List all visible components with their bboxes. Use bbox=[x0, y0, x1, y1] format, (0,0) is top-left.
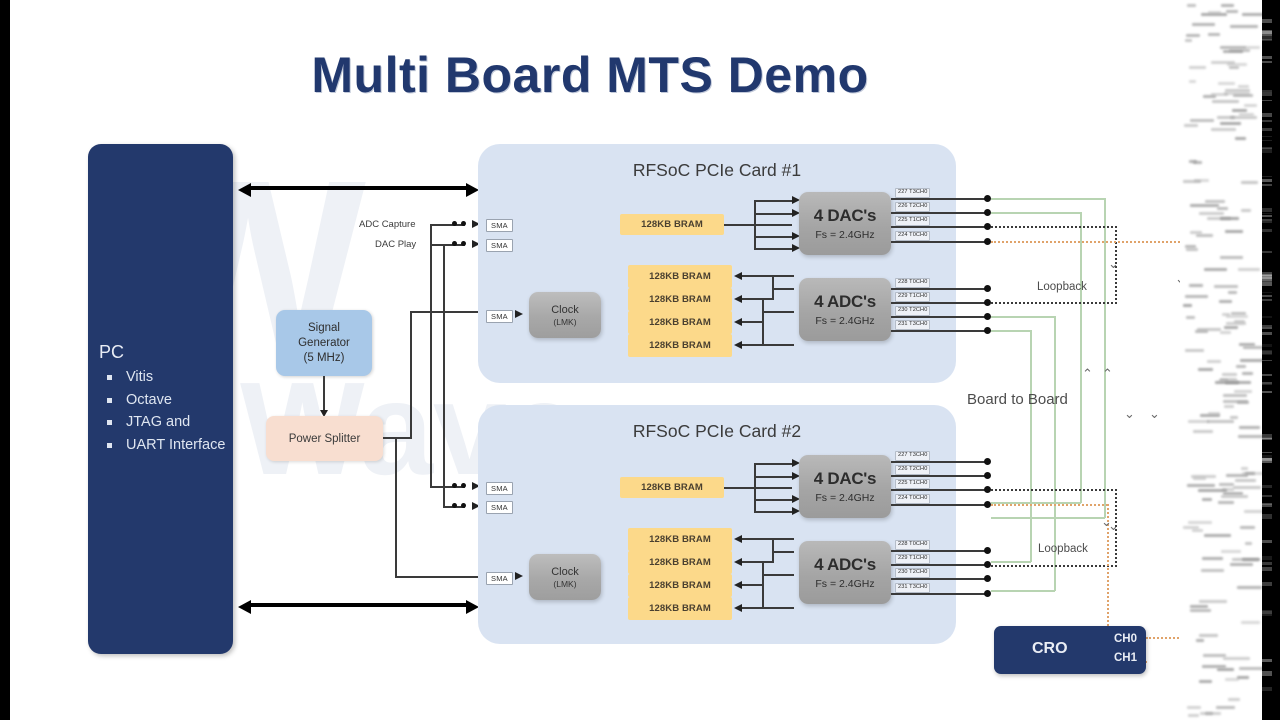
adc2-out-wire-0 bbox=[891, 550, 989, 552]
thumbnail-text-line bbox=[1230, 416, 1237, 419]
thumbnail-text-line bbox=[1226, 474, 1248, 477]
splitter-out-wire bbox=[383, 437, 412, 439]
slide-canvas: W Wave Multi Board MTS Demo PC Vitis Oct… bbox=[10, 0, 1272, 720]
splitter-trunk-up bbox=[410, 311, 412, 438]
thumbnail-text-line bbox=[1228, 698, 1241, 701]
thumbnail-text-line bbox=[1190, 231, 1202, 234]
thumbnail-edge-tick bbox=[1262, 299, 1272, 301]
dac1-out-wire-2 bbox=[891, 226, 989, 228]
adc1-pad-0 bbox=[984, 285, 991, 292]
thumbnail-text-line bbox=[1186, 34, 1201, 37]
thumbnail-text-line bbox=[1211, 128, 1236, 131]
adc1-out-arrow-1 bbox=[734, 295, 742, 303]
thumbnail-edge-tick bbox=[1262, 213, 1272, 215]
bram-card2-adc-2: 128KB BRAM bbox=[628, 574, 732, 597]
cro-block: CRO CH0 CH1 bbox=[994, 626, 1146, 674]
thumbnail-text-line bbox=[1216, 706, 1235, 709]
thumbnail-text-line bbox=[1219, 483, 1233, 486]
thumbnail-text-line bbox=[1233, 486, 1261, 489]
thumbnail-edge-tick bbox=[1262, 556, 1272, 560]
bram-dac1-fan-h3 bbox=[754, 248, 794, 250]
thumbnail-edge-tick bbox=[1262, 179, 1272, 182]
thumbnail-text-line bbox=[1192, 23, 1215, 26]
thumbnail-text-line bbox=[1196, 234, 1213, 237]
thumbnail-text-line bbox=[1202, 498, 1211, 501]
adc1-out-wire-2 bbox=[891, 316, 989, 318]
thumbnail-edge-tick bbox=[1262, 503, 1272, 507]
bram-card2-adc-3: 128KB BRAM bbox=[628, 597, 732, 620]
cro-ch1-label: CH1 bbox=[1114, 652, 1137, 664]
thumbnail-edge-tick bbox=[1262, 384, 1272, 386]
thumbnail-text-line bbox=[1199, 680, 1212, 683]
adc-block-card1: 4 ADC's Fs = 2.4GHz bbox=[799, 278, 891, 341]
thumbnail-text-line bbox=[1193, 430, 1213, 433]
loopback-label-2: Loopback bbox=[1038, 543, 1088, 555]
thumbnail-text-line bbox=[1205, 712, 1213, 715]
thumbnail-text-line bbox=[1221, 495, 1247, 498]
thumbnail-edge-tick bbox=[1262, 100, 1272, 102]
sma-tag-card1-clk: SMA bbox=[486, 310, 513, 323]
thumbnail-text-line bbox=[1214, 285, 1238, 288]
capture-trunk-v1 bbox=[430, 224, 432, 487]
thumbnail-text-line bbox=[1203, 654, 1226, 657]
thumbnail-text-line bbox=[1218, 501, 1233, 504]
clock-card1-line2: (LMK) bbox=[553, 317, 576, 327]
thumbnail-text-line bbox=[1217, 207, 1228, 210]
adc-card2-fs: Fs = 2.4GHz bbox=[815, 578, 874, 590]
signal-generator-line2: Generator bbox=[298, 336, 350, 351]
bram-dac2-fan-h1 bbox=[754, 476, 794, 478]
thumbnail-text-line bbox=[1234, 390, 1252, 393]
cro-ch0-label: CH0 bbox=[1114, 633, 1137, 645]
pc-card1-bus bbox=[248, 186, 470, 190]
thumbnail-text-line bbox=[1224, 326, 1238, 329]
adc1-out-wire-3 bbox=[891, 330, 989, 332]
thumbnail-edge-tick bbox=[1262, 148, 1272, 153]
splitter-to-card2-clk bbox=[395, 576, 486, 578]
thumbnail-text-line bbox=[1218, 82, 1235, 85]
port-card1-dac-0: 227 T3CH0 bbox=[895, 188, 930, 198]
adc-capture-label: ADC Capture bbox=[359, 219, 416, 230]
sma-tag-card1-adc: SMA bbox=[486, 219, 513, 232]
port-card2-adc-0: 228 T0CH0 bbox=[895, 540, 930, 550]
adc1-out-wire-0 bbox=[891, 288, 989, 290]
b2b-chevron-down-2: ⌄ bbox=[1149, 410, 1160, 420]
dac-card2-name: 4 DAC's bbox=[814, 469, 876, 489]
sma-card2-clk-arrow bbox=[515, 572, 523, 580]
bram-dac2-fan-v bbox=[754, 463, 756, 513]
thumbnail-edge-tick bbox=[1262, 485, 1272, 488]
thumbnail-edge-tick bbox=[1262, 458, 1272, 463]
thumbnail-edge-tick bbox=[1262, 275, 1272, 278]
thumbnail-edge-tick bbox=[1262, 495, 1272, 497]
adc1-bus-2 bbox=[742, 321, 764, 323]
b2b-chevron-up-2: ⌃ bbox=[1102, 370, 1113, 380]
loopback1-chevron: ⌄ bbox=[1108, 260, 1119, 270]
thumbnail-edge-tick bbox=[1262, 567, 1272, 572]
adc2-bus-3 bbox=[742, 607, 794, 609]
adc2-pad-2 bbox=[984, 575, 991, 582]
adc1-out-arrow-3 bbox=[734, 341, 742, 349]
thumbnail-text-line bbox=[1220, 256, 1243, 259]
thumbnail-edge-tick bbox=[1262, 39, 1272, 40]
thumbnail-edge-tick bbox=[1262, 208, 1272, 212]
bram-dac2-fan-h2 bbox=[754, 499, 794, 501]
pc-panel: PC Vitis Octave JTAG and UART Interface bbox=[88, 144, 233, 654]
port-card1-adc-0: 228 T0CH0 bbox=[895, 278, 930, 288]
list-item: JTAG and bbox=[102, 411, 225, 434]
thumbnail-text-line bbox=[1231, 312, 1246, 315]
thumbnail-text-line bbox=[1187, 706, 1201, 709]
dac-play-wire bbox=[430, 244, 465, 246]
port-card2-adc-1: 229 T1CH0 bbox=[895, 554, 930, 564]
thumbnail-edge-tick bbox=[1262, 176, 1272, 177]
bram-dac1-fan-h2 bbox=[754, 236, 794, 238]
thumbnail-edge-tick bbox=[1262, 687, 1272, 691]
bram-card1-adc-0: 128KB BRAM bbox=[628, 265, 732, 288]
card2-capture-node-b bbox=[461, 483, 466, 488]
adc2-bus-2 bbox=[742, 584, 764, 586]
dac-card1-fs: Fs = 2.4GHz bbox=[815, 229, 874, 241]
thumbnail-text-line bbox=[1245, 542, 1252, 545]
thumbnail-text-line bbox=[1199, 634, 1218, 637]
dac1-pad-3 bbox=[984, 238, 991, 245]
thumbnail-edge-tick bbox=[1262, 251, 1272, 253]
thumbnail-text-line bbox=[1232, 109, 1247, 112]
adc1-out-wire-1 bbox=[891, 302, 989, 304]
thumbnail-text-line bbox=[1224, 405, 1234, 408]
thumbnail-edge-tick bbox=[1262, 374, 1272, 377]
dac-block-card1: 4 DAC's Fs = 2.4GHz bbox=[799, 192, 891, 255]
thumbnail-text-line bbox=[1208, 33, 1220, 36]
loopback1-top bbox=[991, 226, 1117, 228]
cro-chevron-2: ⌄ bbox=[1101, 518, 1112, 528]
cro-ch0-route-in bbox=[1146, 637, 1182, 639]
thumbnail-text-line bbox=[1189, 284, 1203, 287]
thumbnail-edge-tick bbox=[1262, 128, 1272, 131]
card2-capture-wire bbox=[430, 486, 465, 488]
bram-dac2-fan-h0 bbox=[754, 463, 794, 465]
adc-card1-name: 4 ADC's bbox=[814, 292, 876, 312]
thumbnail-text-line bbox=[1212, 100, 1239, 103]
bram-card1-adc-2: 128KB BRAM bbox=[628, 311, 732, 334]
loopback2-bottom bbox=[991, 565, 1117, 567]
thumbnail-text-line bbox=[1238, 268, 1260, 271]
adc2-bus-h1 bbox=[772, 551, 794, 553]
thumbnail-text-line bbox=[1237, 586, 1262, 589]
thumbnail-text-line bbox=[1189, 80, 1196, 83]
clock-card1-line1: Clock bbox=[551, 304, 579, 316]
thumbnail-text-line bbox=[1235, 479, 1257, 482]
splitter-to-card1-clk bbox=[410, 311, 486, 313]
thumbnail-text-line bbox=[1220, 331, 1231, 334]
thumbnail-edge-tick bbox=[1262, 659, 1272, 662]
thumbnail-text-line bbox=[1187, 4, 1197, 7]
adc2-out-wire-2 bbox=[891, 578, 989, 580]
thumbnail-edge-tick bbox=[1262, 350, 1272, 354]
clock-lmk-card2: Clock (LMK) bbox=[529, 554, 601, 600]
thumbnail-text-line bbox=[1183, 304, 1192, 307]
b2b-chevron-up-1: ⌃ bbox=[1082, 370, 1093, 380]
thumbnail-edge-tick bbox=[1262, 120, 1272, 121]
thumbnail-text-line bbox=[1241, 181, 1259, 184]
bram-dac2-wire bbox=[724, 487, 792, 489]
thumbnail-text-line bbox=[1190, 605, 1208, 608]
bram-dac1-fan-h0 bbox=[754, 200, 794, 202]
thumbnail-edge-tick bbox=[1262, 452, 1272, 453]
thumbnail-text-line bbox=[1193, 477, 1207, 480]
thumbnail-edge-tick bbox=[1262, 92, 1272, 97]
adc2-out-arrow-1 bbox=[734, 558, 742, 566]
thumbnail-text-line bbox=[1239, 113, 1253, 116]
thumbnail-text-line bbox=[1207, 420, 1234, 423]
list-item: Vitis bbox=[102, 366, 225, 389]
thumbnail-text-line bbox=[1192, 529, 1203, 532]
adc1-pad-2 bbox=[984, 313, 991, 320]
signal-generator-line1: Signal bbox=[308, 321, 340, 336]
thumbnail-text-line bbox=[1187, 484, 1214, 487]
clock-lmk-card1: Clock (LMK) bbox=[529, 292, 601, 338]
thumbnail-text-line bbox=[1199, 600, 1226, 603]
dac2-out-wire-0 bbox=[891, 461, 989, 463]
thumbnail-edge-tick bbox=[1262, 391, 1272, 394]
adc2-bus-v2 bbox=[762, 561, 764, 607]
adc-card2-name: 4 ADC's bbox=[814, 555, 876, 575]
thumbnail-text-line bbox=[1188, 521, 1211, 524]
thumbnail-text-line bbox=[1217, 116, 1235, 119]
adc1-bus-v1 bbox=[772, 275, 774, 298]
thumbnail-text-line bbox=[1183, 180, 1201, 183]
sma-tag-card2-clk: SMA bbox=[486, 572, 513, 585]
b2b-green-4-v bbox=[1030, 330, 1032, 562]
b2b-green-2-v bbox=[1080, 212, 1082, 503]
thumbnail-edge-tick bbox=[1262, 31, 1272, 36]
port-card1-adc-3: 231 T3CH0 bbox=[895, 320, 930, 330]
thumbnail-text-line bbox=[1190, 204, 1219, 207]
thumbnail-text-line bbox=[1190, 119, 1214, 122]
thumbnail-edge-tick bbox=[1262, 292, 1272, 293]
dac1-out-wire-0 bbox=[891, 198, 989, 200]
thumbnail-text-line bbox=[1188, 420, 1209, 423]
thumbnail-text-line bbox=[1208, 11, 1221, 14]
thumbnail-edge-tick bbox=[1262, 437, 1272, 440]
bram-dac1-fan-v bbox=[754, 200, 756, 250]
thumbnail-text-line bbox=[1200, 414, 1220, 417]
play-trunk-v2 bbox=[443, 244, 445, 506]
power-splitter-block: Power Splitter bbox=[266, 416, 383, 461]
dac1-out-wire-1 bbox=[891, 212, 989, 214]
thumbnail-text-line bbox=[1221, 550, 1241, 553]
dac1-pad-0 bbox=[984, 195, 991, 202]
thumbnail-edge-tick bbox=[1262, 360, 1272, 362]
adc2-pad-3 bbox=[984, 590, 991, 597]
thumbnail-text-line bbox=[1211, 93, 1229, 96]
thumbnail-text-line bbox=[1185, 295, 1208, 298]
clock-card2-line1: Clock bbox=[551, 566, 579, 578]
thumbnail-text-line bbox=[1199, 212, 1225, 215]
thumbnail-text-line bbox=[1244, 510, 1264, 513]
thumbnail-text-line bbox=[1241, 209, 1252, 212]
thumbnail-text-line bbox=[1233, 94, 1253, 97]
card2-play-node-a bbox=[452, 503, 457, 508]
dac-block-card2: 4 DAC's Fs = 2.4GHz bbox=[799, 455, 891, 518]
thumbnail-edge-tick bbox=[1262, 219, 1272, 220]
adc2-bus-1 bbox=[742, 561, 774, 563]
thumbnail-edge-tick bbox=[1262, 295, 1272, 297]
thumbnail-edge-tick bbox=[1262, 282, 1272, 286]
adc2-bus-h2 bbox=[762, 574, 794, 576]
port-card1-dac-3: 224 T0CH0 bbox=[895, 231, 930, 241]
thumbnail-text-line bbox=[1229, 66, 1239, 69]
thumbnail-text-line bbox=[1232, 558, 1259, 561]
port-card2-adc-2: 230 T2CH0 bbox=[895, 568, 930, 578]
thumbnail-text-line bbox=[1204, 268, 1227, 271]
bram-card1-adc-1: 128KB BRAM bbox=[628, 288, 732, 311]
splitter-trunk-down bbox=[395, 437, 397, 577]
thumbnail-text-line bbox=[1226, 10, 1238, 13]
thumbnail-text-line bbox=[1183, 526, 1199, 529]
sma-tag-card1-dac: SMA bbox=[486, 239, 513, 252]
thumbnail-text-line bbox=[1219, 379, 1228, 382]
port-card1-adc-2: 230 T2CH0 bbox=[895, 306, 930, 316]
dac-card2-fs: Fs = 2.4GHz bbox=[815, 492, 874, 504]
thumbnail-text-line bbox=[1202, 665, 1226, 668]
loopback-label-1: Loopback bbox=[1037, 281, 1087, 293]
thumbnail-strip bbox=[1180, 0, 1272, 720]
sma-card1-clk-arrow bbox=[515, 310, 523, 318]
dac2-pad-3 bbox=[984, 501, 991, 508]
adc2-out-arrow-0 bbox=[734, 535, 742, 543]
thumbnail-text-line bbox=[1190, 609, 1210, 612]
adc1-bus-h2 bbox=[762, 311, 794, 313]
dac2-out-wire-3 bbox=[891, 504, 989, 506]
loopback2-top bbox=[991, 489, 1117, 491]
thumbnail-text-line bbox=[1222, 373, 1238, 376]
port-card2-dac-0: 227 T3CH0 bbox=[895, 451, 930, 461]
adc1-bus-h1 bbox=[772, 288, 794, 290]
adc1-out-arrow-2 bbox=[734, 318, 742, 326]
adc1-bus-1 bbox=[742, 298, 774, 300]
bram-card2-dac-0: 128KB BRAM bbox=[620, 477, 724, 498]
adc1-bus-v2 bbox=[762, 298, 764, 344]
thumbnail-text-line bbox=[1198, 368, 1212, 371]
thumbnail-text-line bbox=[1223, 657, 1250, 660]
dac1-out-wire-3 bbox=[891, 241, 989, 243]
thumbnail-edge-tick bbox=[1262, 136, 1272, 137]
b2b-green-3-h bbox=[991, 316, 1055, 318]
thumbnail-text-line bbox=[1201, 569, 1225, 572]
thumbnail-text-line bbox=[1185, 39, 1193, 42]
adc1-pad-3 bbox=[984, 327, 991, 334]
bram-dac1-fan-h1 bbox=[754, 213, 794, 215]
thumbnail-text-line bbox=[1189, 66, 1206, 69]
thumbnail-text-line bbox=[1195, 330, 1209, 333]
thumbnail-text-line bbox=[1204, 534, 1231, 537]
thumbnail-text-line bbox=[1230, 25, 1257, 28]
dac2-out-wire-2 bbox=[891, 489, 989, 491]
thumbnail-text-line bbox=[1217, 668, 1234, 671]
thumbnail-edge-tick bbox=[1262, 434, 1272, 437]
loopback1-bottom bbox=[991, 302, 1117, 304]
thumbnail-text-line bbox=[1196, 639, 1205, 642]
thumbnail-text-line bbox=[1186, 316, 1195, 319]
thumbnail-text-line bbox=[1202, 557, 1222, 560]
port-card1-adc-1: 229 T1CH0 bbox=[895, 292, 930, 302]
thumbnail-text-line bbox=[1226, 322, 1247, 325]
adc-capture-wire bbox=[430, 224, 465, 226]
rfsoc-card-2-title: RFSoC PCIe Card #2 bbox=[478, 421, 956, 442]
thumbnail-text-line bbox=[1228, 291, 1237, 294]
bram-card2-adc-0: 128KB BRAM bbox=[628, 528, 732, 551]
thumbnail-edge-tick bbox=[1262, 140, 1272, 141]
thumbnail-text-line bbox=[1240, 526, 1255, 529]
thumbnail-edge-tick bbox=[1262, 147, 1272, 149]
thumbnail-text-line bbox=[1207, 217, 1231, 220]
dac1-pad-1 bbox=[984, 209, 991, 216]
list-item: UART Interface bbox=[102, 434, 225, 457]
pc-panel-title: PC bbox=[99, 342, 124, 363]
signal-generator-line3: (5 MHz) bbox=[304, 351, 345, 366]
thumbnail-text-line bbox=[1219, 300, 1233, 303]
dac2-pad-2 bbox=[984, 486, 991, 493]
thumbnail-text-line bbox=[1230, 563, 1253, 566]
thumbnail-text-line bbox=[1236, 365, 1246, 368]
thumbnail-edge-tick bbox=[1262, 671, 1272, 675]
adc2-pad-0 bbox=[984, 547, 991, 554]
port-card2-adc-3: 231 T3CH0 bbox=[895, 583, 930, 593]
bram-card1-adc-3: 128KB BRAM bbox=[628, 334, 732, 357]
bram-dac2-fan-h3 bbox=[754, 511, 794, 513]
thumbnail-edge-tick bbox=[1262, 19, 1272, 23]
port-card2-dac-1: 226 T2CH0 bbox=[895, 465, 930, 475]
thumbnail-text-line bbox=[1225, 230, 1243, 233]
adc2-out-wire-3 bbox=[891, 593, 989, 595]
b2b-green-1-v bbox=[1104, 198, 1106, 518]
thumbnail-text-line bbox=[1238, 435, 1264, 438]
thumbnail-text-line bbox=[1238, 85, 1250, 88]
thumbnail-text-line bbox=[1188, 714, 1200, 717]
thumbnail-strip-edge bbox=[1262, 0, 1272, 720]
dac1-pad-2 bbox=[984, 223, 991, 230]
thumbnail-edge-tick bbox=[1262, 332, 1272, 336]
port-card2-dac-2: 225 T1CH0 bbox=[895, 479, 930, 489]
clock-card2-line2: (LMK) bbox=[553, 579, 576, 589]
thumbnail-text-line bbox=[1193, 161, 1202, 164]
thumbnail-text-line bbox=[1223, 400, 1249, 403]
bram-card2-adc-1: 128KB BRAM bbox=[628, 551, 732, 574]
thumbnail-text-line bbox=[1239, 426, 1260, 429]
thumbnail-text-line bbox=[1242, 372, 1253, 375]
cro-ch1-route-h bbox=[991, 504, 1108, 506]
b2b-green-4-h bbox=[991, 330, 1031, 332]
adc-capture-node-a bbox=[452, 221, 457, 226]
thumbnail-edge-tick bbox=[1262, 316, 1272, 318]
thumbnail-edge-tick bbox=[1262, 344, 1272, 346]
b2b-green-1-h2 bbox=[991, 517, 1105, 519]
sma-tag-card2-adc: SMA bbox=[486, 482, 513, 495]
cro-ch0-route-h bbox=[991, 241, 1183, 243]
thumbnail-edge-tick bbox=[1262, 184, 1272, 187]
rfsoc-card-1-title: RFSoC PCIe Card #1 bbox=[478, 160, 956, 181]
thumbnail-edge-tick bbox=[1262, 215, 1272, 216]
thumbnail-text-line bbox=[1220, 122, 1241, 125]
page-title: Multi Board MTS Demo bbox=[10, 46, 1170, 104]
adc1-pad-1 bbox=[984, 299, 991, 306]
b2b-green-1-h bbox=[991, 198, 1105, 200]
thumbnail-edge-tick bbox=[1262, 611, 1272, 616]
thumbnail-edge-tick bbox=[1262, 514, 1272, 519]
thumbnail-edge-tick bbox=[1262, 582, 1272, 586]
